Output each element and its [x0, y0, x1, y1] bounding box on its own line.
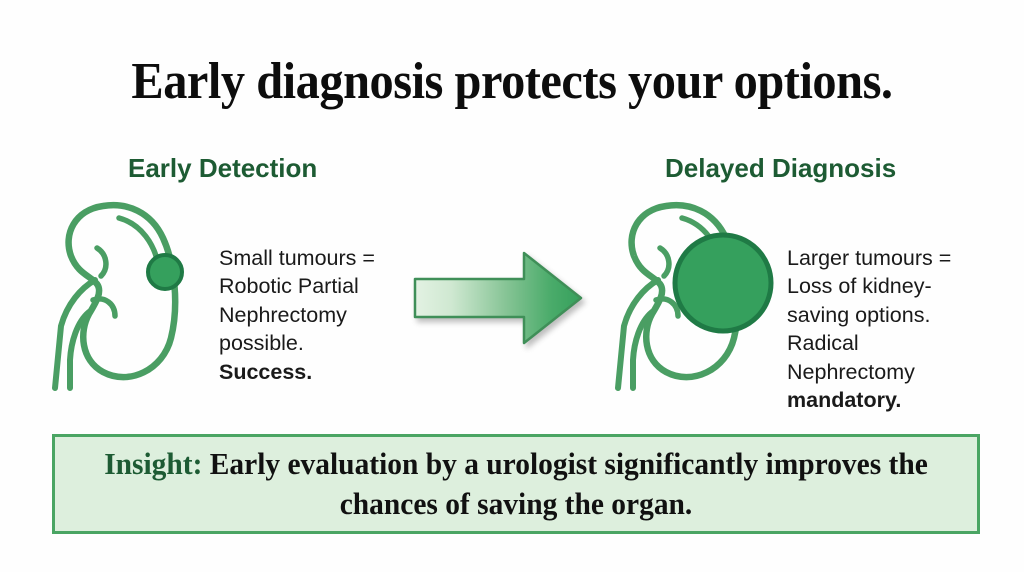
progression-arrow [412, 250, 584, 351]
slide-canvas: Early diagnosis protects your options. E… [0, 0, 1024, 572]
insight-body: Early evaluation by a urologist signific… [202, 446, 927, 521]
page-title: Early diagnosis protects your options. [36, 52, 988, 112]
column-heading-delayed-diagnosis: Delayed Diagnosis [665, 152, 896, 184]
insight-lead: Insight: [104, 446, 202, 481]
emphasis-left: Success. [219, 358, 419, 387]
kidney-small-tumour-icon [45, 192, 205, 397]
insight-callout-box: Insight: Early evaluation by a urologist… [52, 434, 980, 534]
body-lines-left: Small tumours = Robotic Partial Nephrect… [219, 246, 375, 356]
column-body-early-detection: Small tumours = Robotic Partial Nephrect… [219, 215, 419, 415]
column-body-delayed-diagnosis: Larger tumours = Loss of kidney- saving … [787, 215, 1002, 443]
emphasis-right: mandatory. [787, 386, 1002, 415]
column-heading-early-detection: Early Detection [128, 152, 317, 184]
insight-text: Insight: Early evaluation by a urologist… [78, 444, 954, 524]
body-lines-right: Larger tumours = Loss of kidney- saving … [787, 246, 951, 384]
kidney-large-tumour-icon [608, 192, 783, 397]
